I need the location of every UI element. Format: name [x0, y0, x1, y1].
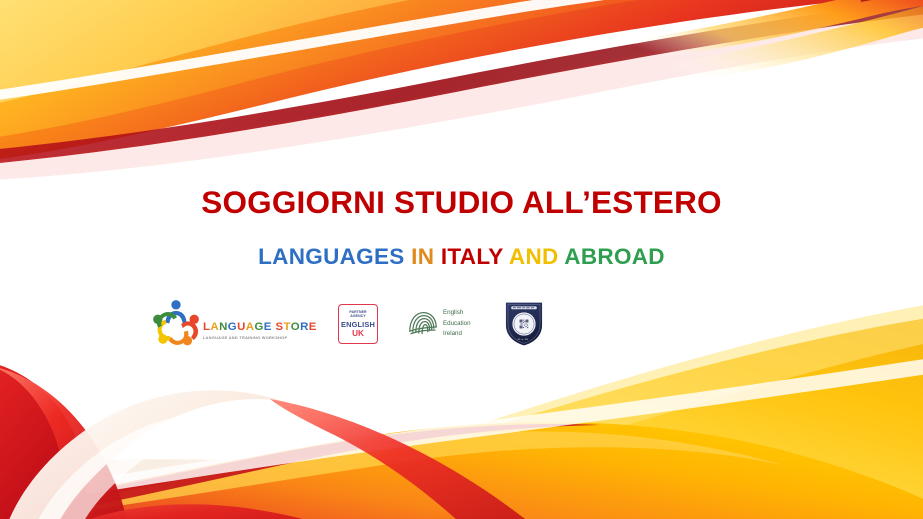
five-people-circle-icon: [150, 298, 202, 350]
english-uk-line2: AGENCY: [349, 314, 366, 318]
page-title: SOGGIORNI STUDIO ALL’ESTERO: [201, 186, 722, 219]
fingerprint-leaf-icon: [408, 309, 438, 339]
english-education-ireland-wordmark: English Education Ireland: [443, 308, 471, 339]
language-store-wordmark: LANGUAGE STORE LANGUAGE AND TRAINING WOR…: [203, 322, 317, 340]
wordmark-char-3: G: [228, 321, 237, 333]
subtitle-word-4: ITALY: [441, 244, 503, 269]
wordmark-char-7: E: [264, 321, 272, 333]
wordmark-char-10: T: [284, 321, 291, 333]
english-uk-partner-label: PARTNER AGENCY: [349, 310, 366, 319]
language-store-tagline: LANGUAGE AND TRAINING WORKSHOP: [203, 336, 317, 340]
wordmark-char-11: O: [291, 321, 300, 333]
wordmark-char-6: G: [254, 321, 263, 333]
logo-english-uk-partner-agency: PARTNER AGENCY ENGLISH UK: [338, 304, 378, 344]
wordmark-char-2: N: [219, 321, 228, 333]
eei-line3: Ireland: [443, 329, 471, 339]
slide-subtitle: LANGUAGES IN ITALY AND ABROAD: [258, 245, 665, 269]
partner-logo-row: LANGUAGE STORE LANGUAGE AND TRAINING WOR…: [0, 293, 923, 355]
slide-content: SOGGIORNI STUDIO ALL’ESTERO LANGUAGES IN…: [0, 0, 923, 519]
navy-shield-seal-icon: [503, 301, 545, 347]
wordmark-char-9: S: [275, 321, 283, 333]
wordmark-char-4: U: [237, 321, 246, 333]
logo-english-education-ireland: English Education Ireland: [408, 302, 471, 346]
subtitle-word-2: IN: [411, 244, 434, 269]
logo-accreditation-shield-crest: [503, 301, 545, 347]
wordmark-char-13: E: [309, 321, 317, 333]
english-uk-english-label: ENGLISH: [341, 321, 375, 328]
subtitle-word-8: ABROAD: [564, 244, 665, 269]
wordmark-char-1: A: [210, 321, 219, 333]
wordmark-char-12: R: [300, 321, 309, 333]
logo-language-store: LANGUAGE STORE LANGUAGE AND TRAINING WOR…: [150, 295, 300, 353]
subtitle-word-0: LANGUAGES: [258, 244, 404, 269]
eei-line2: Education: [443, 319, 471, 329]
subtitle-word-6: AND: [509, 244, 559, 269]
language-store-name: LANGUAGE STORE: [203, 322, 317, 333]
eei-line1: English: [443, 308, 471, 318]
english-uk-uk-label: UK: [352, 330, 364, 338]
presentation-slide: SOGGIORNI STUDIO ALL’ESTERO LANGUAGES IN…: [0, 0, 923, 519]
